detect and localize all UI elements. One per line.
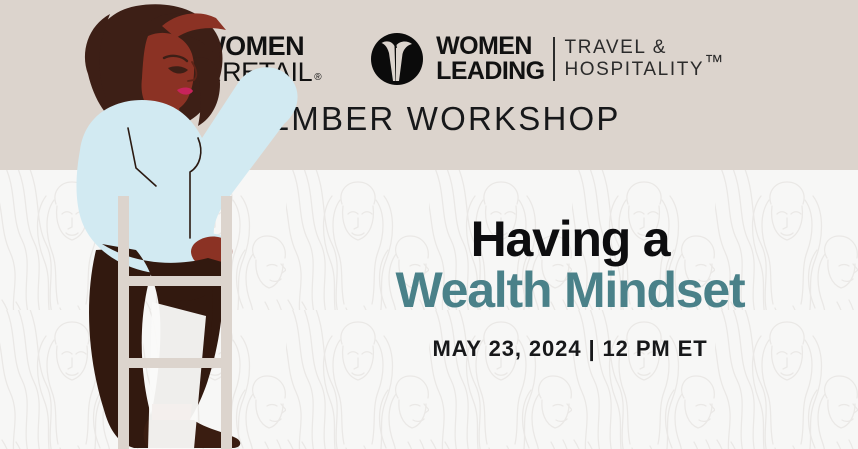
logo-women-leading-travel-hospitality: WOMEN LEADING TRAVEL & HOSPITALITY™ [369, 31, 725, 87]
headline-line-2: Wealth Mindset [360, 264, 780, 317]
logo-divider [553, 37, 555, 81]
headline-block: Having a Wealth Mindset [360, 214, 780, 317]
woman-shading-eyes-illustration [44, 0, 314, 449]
trademark-icon: ™ [704, 52, 725, 73]
logo-line-leading: LEADING [436, 59, 544, 84]
women-leading-lines: WOMEN LEADING [436, 34, 544, 84]
women-leading-wordmark: WOMEN LEADING TRAVEL & HOSPITALITY™ [436, 34, 725, 84]
registered-trademark-icon: ® [314, 73, 321, 83]
promo-graphic: WOMEN in RETAIL ® WOMEN LEADING [0, 0, 858, 449]
travel-hospitality-lines: TRAVEL & HOSPITALITY™ [564, 37, 724, 80]
w-circle-logo-mark [369, 31, 425, 87]
event-date-time: MAY 23, 2024 | 12 PM ET [360, 336, 780, 362]
logo-line-travel: TRAVEL & [564, 37, 724, 59]
headline-line-1: Having a [360, 214, 780, 264]
logo-line-hospitality: HOSPITALITY™ [564, 59, 724, 81]
logo-line-women: WOMEN [436, 34, 544, 59]
